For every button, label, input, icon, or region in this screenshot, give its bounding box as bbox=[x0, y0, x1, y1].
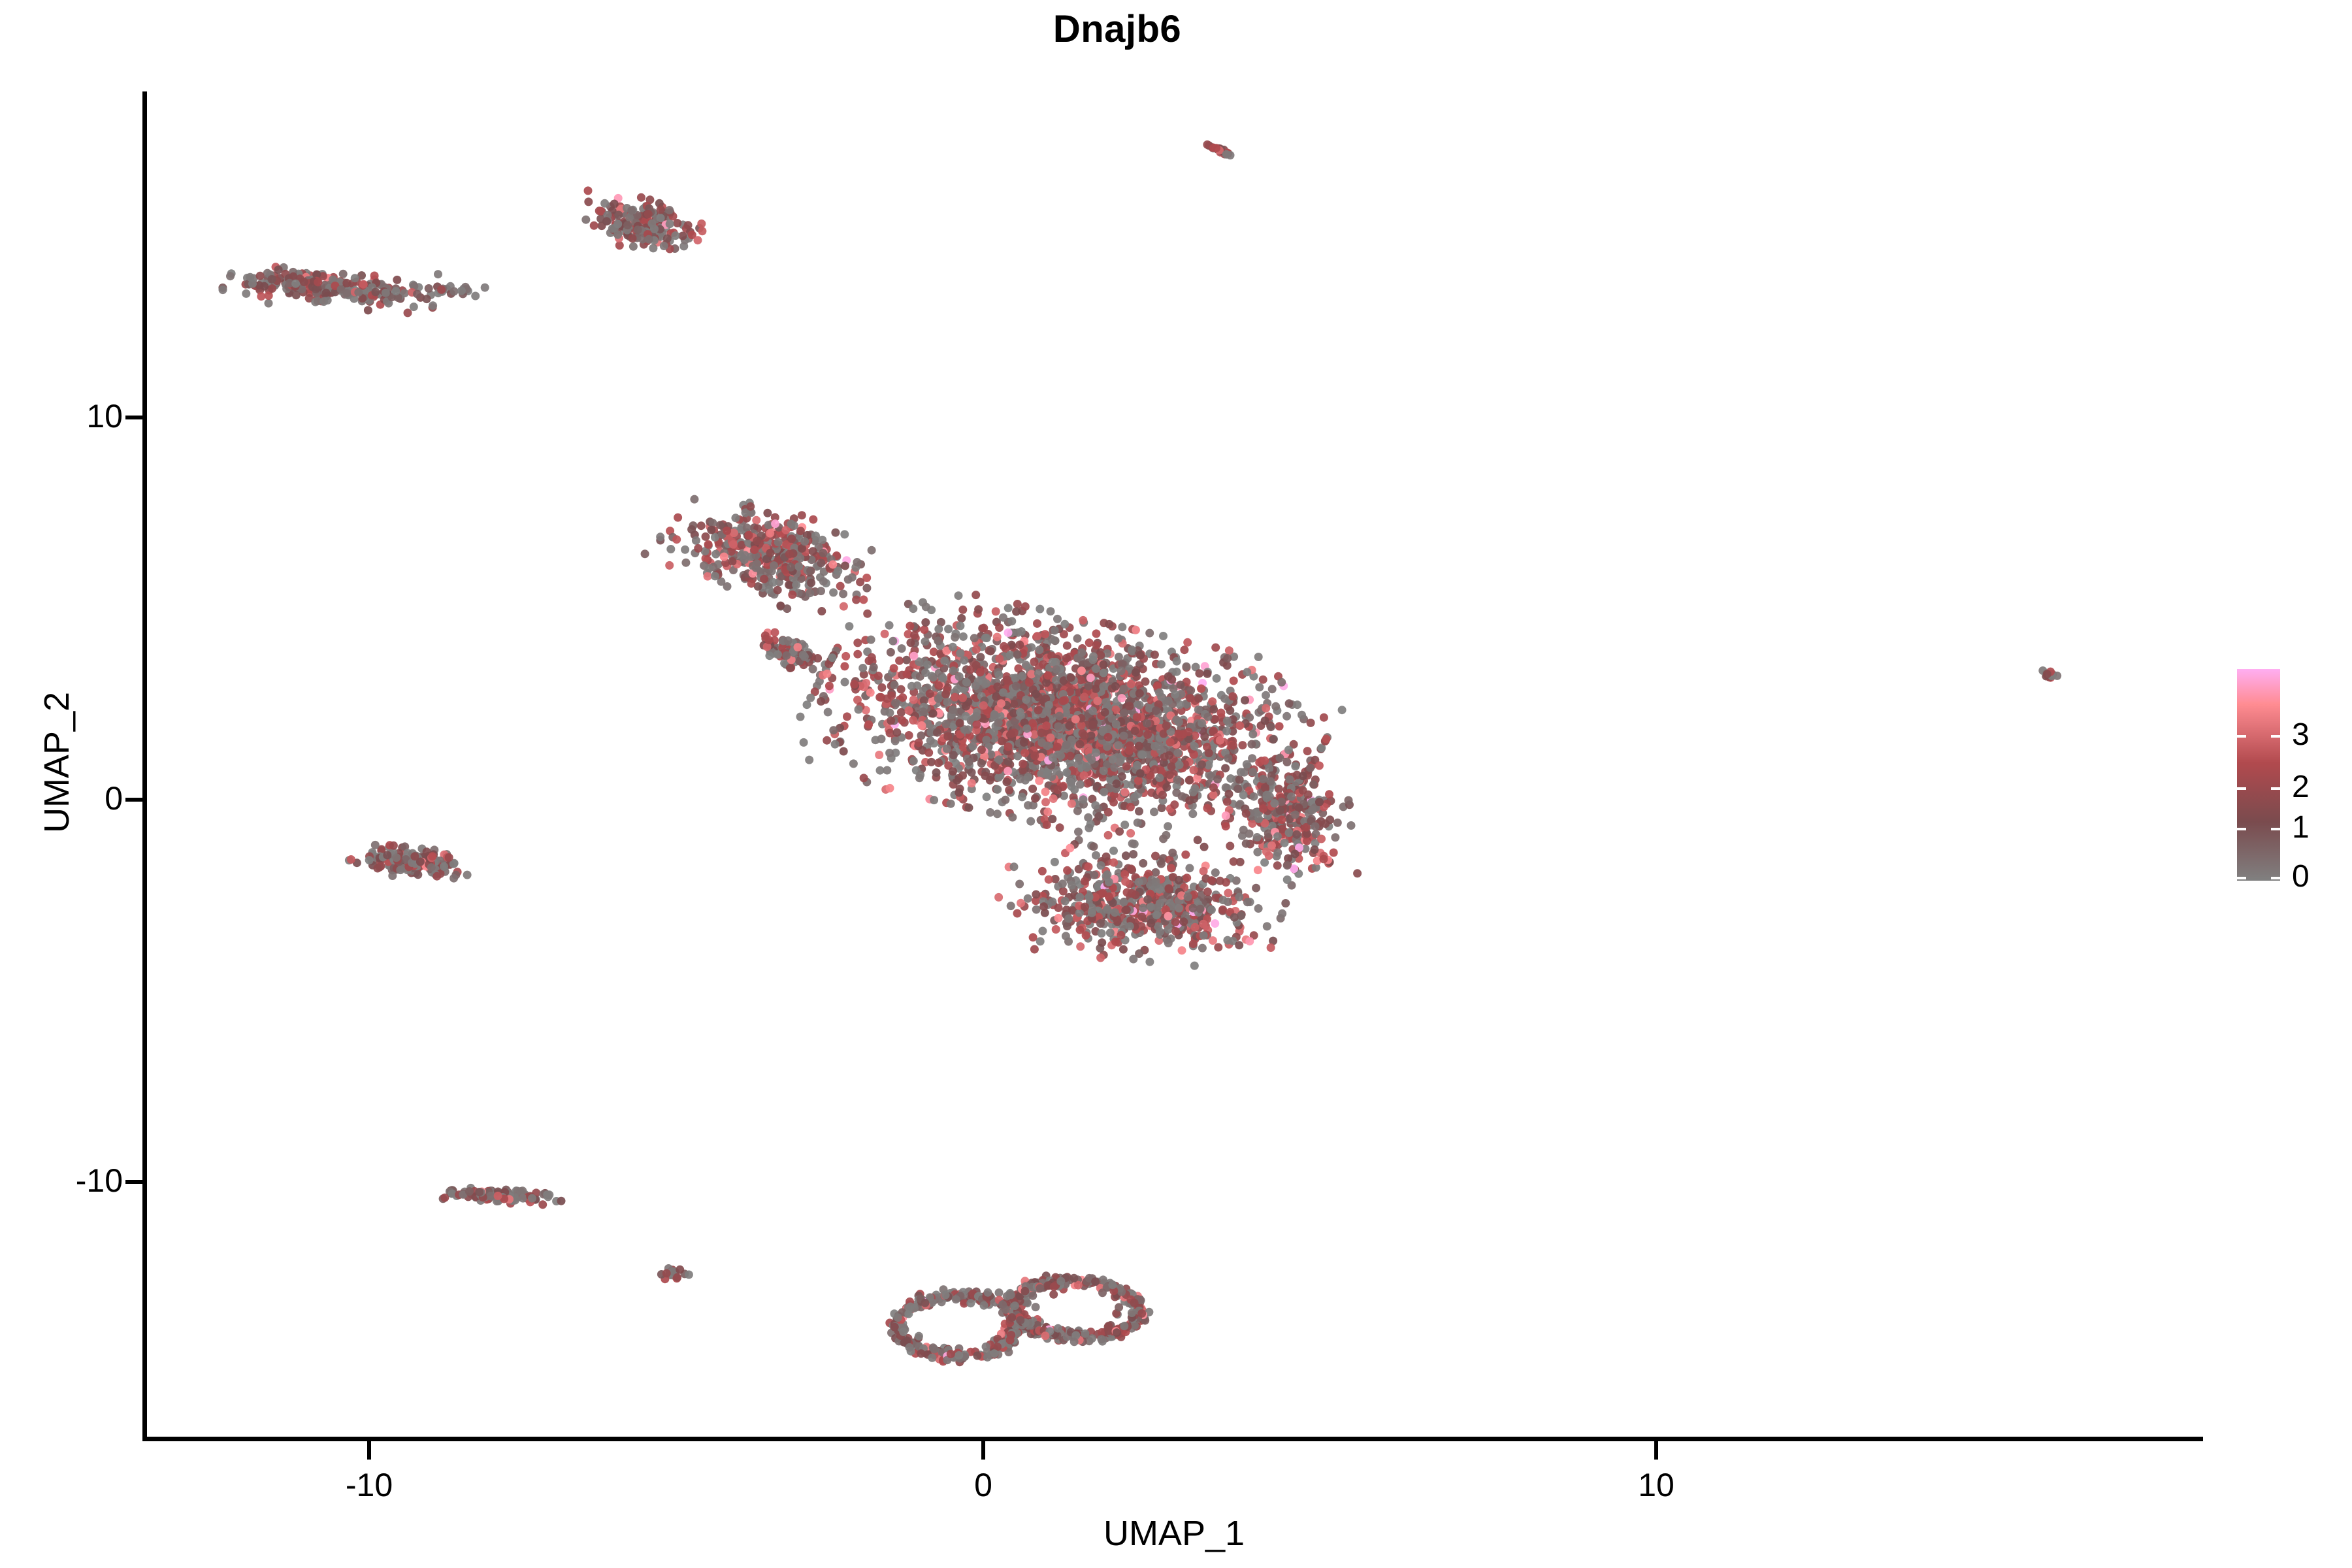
colorbar-tick-2-right bbox=[2271, 787, 2280, 790]
x-tick-mark-neg10 bbox=[367, 1441, 371, 1460]
colorbar-tick-0-left bbox=[2237, 877, 2246, 879]
colorbar-label-0: 0 bbox=[2292, 861, 2338, 892]
umap-feature-plot: Dnajb6 10 0 -10 -10 0 10 UMAP_1 UMAP_2 3… bbox=[0, 0, 2352, 1568]
x-tick-label-0: 0 bbox=[905, 1469, 1062, 1501]
colorbar-tick-3-right bbox=[2271, 735, 2280, 738]
colorbar-tick-0-right bbox=[2271, 877, 2280, 879]
scatter-points-layer bbox=[145, 91, 2203, 1439]
page-title: Dnajb6 bbox=[0, 10, 2234, 48]
y-tick-mark-0 bbox=[125, 798, 144, 802]
y-axis-title: UMAP_2 bbox=[39, 468, 74, 1056]
x-tick-label-10: 10 bbox=[1578, 1469, 1735, 1501]
x-axis-line bbox=[142, 1437, 2203, 1441]
colorbar-tick-2-left bbox=[2237, 787, 2246, 790]
x-tick-mark-0 bbox=[981, 1441, 985, 1460]
colorbar-label-2: 2 bbox=[2292, 772, 2338, 803]
y-tick-label-10: 10 bbox=[0, 400, 123, 433]
x-axis-title: UMAP_1 bbox=[145, 1516, 2203, 1551]
colorbar-tick-1-right bbox=[2271, 828, 2280, 830]
colorbar-tick-3-left bbox=[2237, 735, 2246, 738]
x-tick-label-neg10: -10 bbox=[291, 1469, 448, 1501]
y-axis-line bbox=[142, 91, 147, 1441]
y-tick-label-neg10: -10 bbox=[0, 1164, 123, 1197]
colorbar-tick-1-left bbox=[2237, 828, 2246, 830]
plot-panel bbox=[145, 91, 2203, 1439]
colorbar-gradient bbox=[2237, 669, 2280, 881]
colorbar-label-3: 3 bbox=[2292, 719, 2338, 751]
x-tick-mark-10 bbox=[1654, 1441, 1658, 1460]
colorbar-label-1: 1 bbox=[2292, 812, 2338, 843]
y-tick-mark-10 bbox=[125, 416, 144, 419]
y-tick-mark-neg10 bbox=[125, 1180, 144, 1184]
legend-colorbar: 3 2 1 0 bbox=[2237, 669, 2348, 885]
